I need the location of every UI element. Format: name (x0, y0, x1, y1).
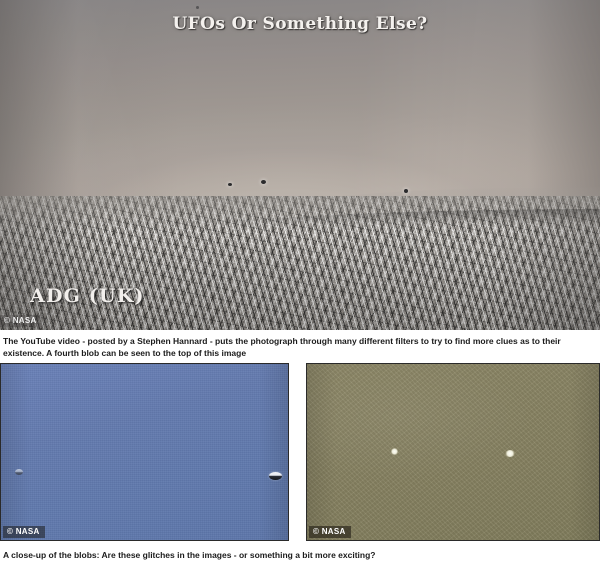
hero-blob-2 (261, 180, 266, 184)
closeup-panel-blue[interactable]: © NASA (0, 363, 289, 541)
hero-blob-4 (196, 6, 199, 9)
article-page: UFOs Or Something Else? ADG (UK) © NASA … (0, 0, 600, 556)
hero-image[interactable]: UFOs Or Something Else? ADG (UK) © NASA (0, 0, 600, 330)
khaki-panel-nasa-credit: © NASA (309, 526, 351, 538)
caption-top: The YouTube video - posted by a Stephen … (0, 330, 600, 360)
hero-blob-1 (228, 183, 232, 186)
khaki-panel-blob-2 (505, 450, 515, 457)
khaki-panel-vignette (307, 364, 599, 540)
blue-panel-blob-1 (15, 469, 23, 475)
closeup-panel-row: © NASA © NASA (0, 360, 600, 543)
hero-blob-3 (404, 189, 408, 193)
hero-watermark: ADG (UK) (30, 285, 145, 307)
closeup-panel-khaki[interactable]: © NASA (306, 363, 600, 541)
blue-panel-nasa-credit: © NASA (3, 526, 45, 538)
hero-title: UFOs Or Something Else? (0, 14, 600, 34)
blue-panel-blob-2 (269, 472, 282, 480)
blue-panel-vignette (1, 364, 288, 540)
khaki-panel-blob-1 (391, 448, 398, 455)
hero-nasa-credit: © NASA (0, 315, 42, 327)
caption-bottom: A close-up of the blobs: Are these glitc… (0, 543, 600, 569)
